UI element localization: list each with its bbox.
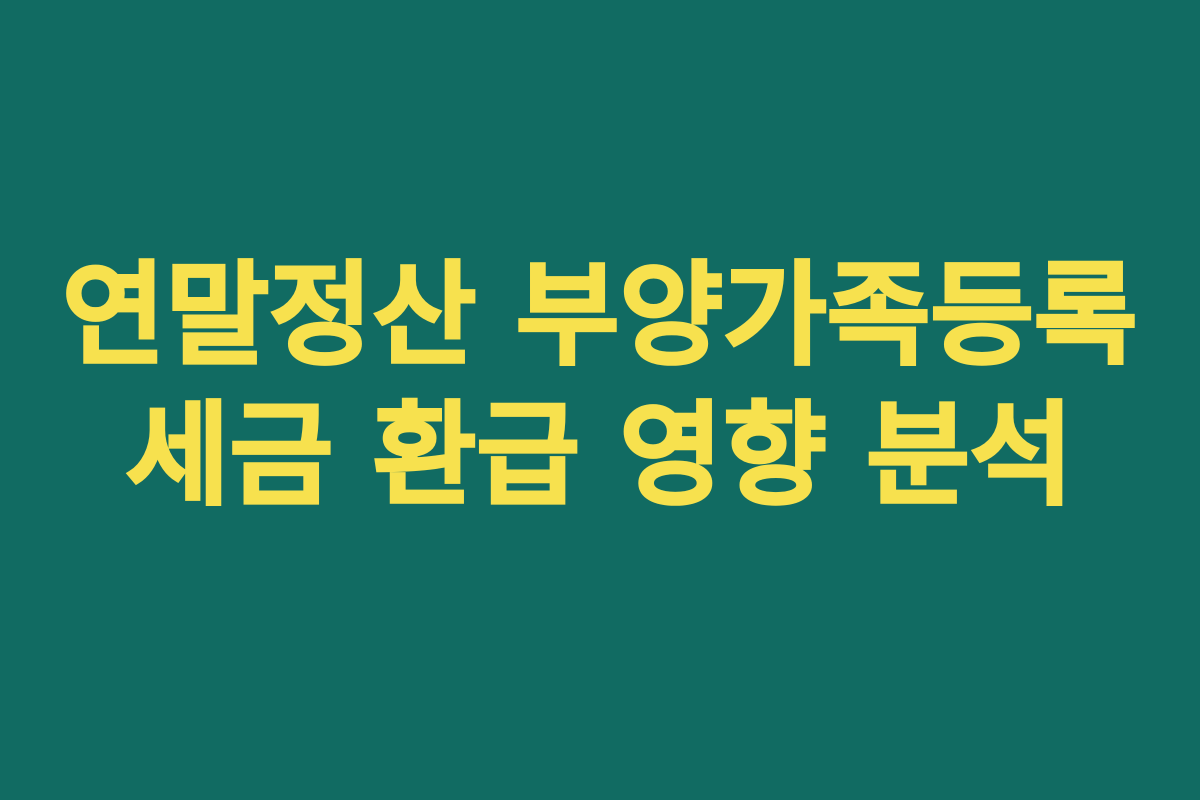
headline-block: 연말정산 부양가족등록 세금 환급 영향 분석 xyxy=(0,246,1200,526)
headline-line-1: 연말정산 부양가족등록 xyxy=(0,246,1200,386)
headline-line-2: 세금 환급 영향 분석 xyxy=(0,386,1200,526)
title-card: 연말정산 부양가족등록 세금 환급 영향 분석 xyxy=(0,0,1200,800)
